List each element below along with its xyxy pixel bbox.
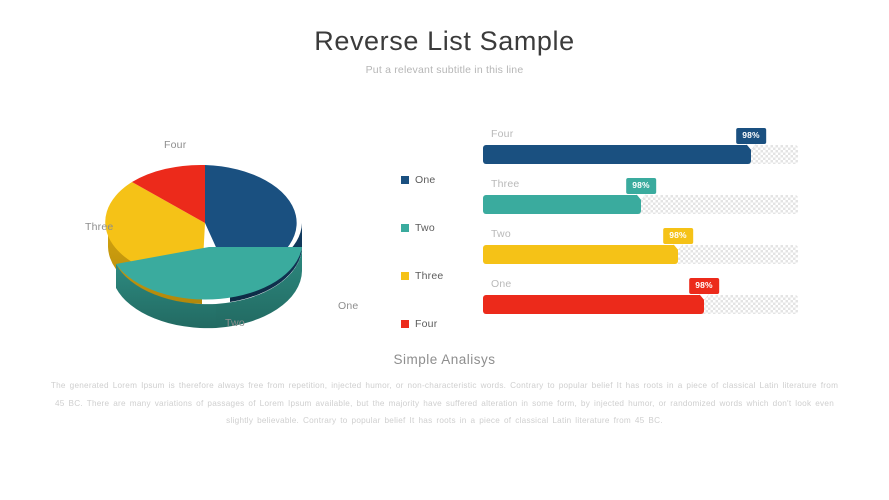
pie-chart-svg — [70, 128, 370, 343]
footer: Simple Analisys The generated Lorem Ipsu… — [0, 352, 889, 430]
pie-chart-graphic: One Two Three Four — [70, 128, 370, 343]
bar-row[interactable]: One98% — [483, 278, 798, 324]
header: Reverse List Sample Put a relevant subti… — [0, 24, 889, 76]
pie-label-one: One — [338, 300, 358, 312]
legend-swatch-icon — [401, 224, 409, 232]
bar-row-label: Three — [491, 178, 519, 190]
pie-chart-panel: One Two Three Four OneTwoThreeFour — [70, 128, 460, 343]
bar-badge-pointer-icon — [699, 294, 709, 300]
bar-badge-pointer-icon — [636, 194, 646, 200]
bar-row-label: One — [491, 278, 511, 290]
pie-label-two: Two — [225, 317, 245, 329]
legend-item-three[interactable]: Three — [401, 252, 471, 300]
legend-item-four[interactable]: Four — [401, 300, 471, 348]
bar-row[interactable]: Two98% — [483, 228, 798, 274]
bar-fill — [483, 195, 641, 214]
pie-label-three: Three — [85, 221, 113, 233]
bar-row[interactable]: Four98% — [483, 128, 798, 174]
legend-swatch-icon — [401, 320, 409, 328]
legend-item-label: Two — [415, 222, 435, 234]
legend-item-label: Four — [415, 318, 437, 330]
bar-value-badge: 98% — [736, 128, 766, 144]
legend-item-two[interactable]: Two — [401, 204, 471, 252]
bar-value-badge: 98% — [626, 178, 656, 194]
footer-body-text: The generated Lorem Ipsum is therefore a… — [50, 377, 840, 430]
page-title: Reverse List Sample — [0, 24, 889, 58]
legend-swatch-icon — [401, 272, 409, 280]
bar-fill — [483, 145, 751, 164]
legend-item-label: One — [415, 174, 435, 186]
footer-title: Simple Analisys — [0, 352, 889, 367]
bar-value-badge: 98% — [663, 228, 693, 244]
bar-fill — [483, 245, 678, 264]
bar-row[interactable]: Three98% — [483, 178, 798, 224]
bar-badge-pointer-icon — [746, 144, 756, 150]
legend-item-one[interactable]: One — [401, 156, 471, 204]
bar-row-label: Two — [491, 228, 511, 240]
bar-chart-panel: Four98%Three98%Two98%One98% — [483, 128, 798, 328]
bar-row-label: Four — [491, 128, 513, 140]
legend-item-label: Three — [415, 270, 443, 282]
page-subtitle: Put a relevant subtitle in this line — [0, 64, 889, 76]
bar-fill — [483, 295, 704, 314]
bar-value-badge: 98% — [689, 278, 719, 294]
pie-legend: OneTwoThreeFour — [401, 156, 471, 348]
pie-label-four: Four — [164, 139, 186, 151]
bar-badge-pointer-icon — [673, 244, 683, 250]
legend-swatch-icon — [401, 176, 409, 184]
